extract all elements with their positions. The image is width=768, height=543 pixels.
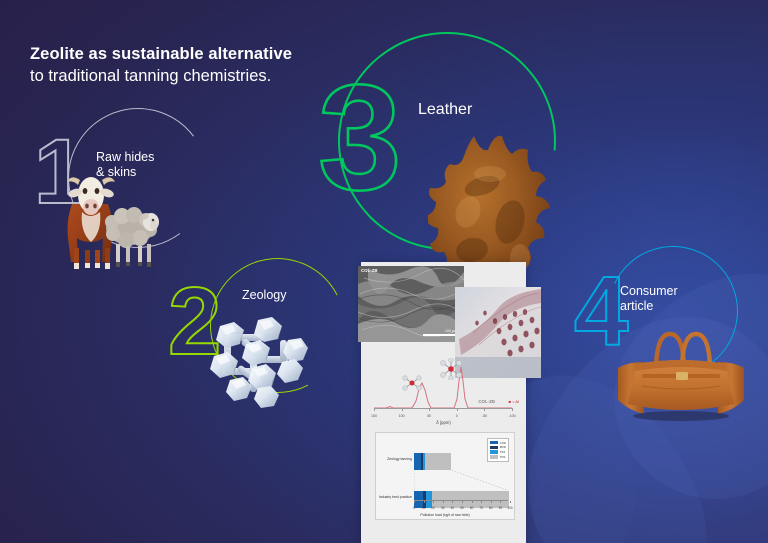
bar-chart-tick-label: 80	[489, 506, 493, 510]
nmr-x-axis-label: δ (ppm)	[366, 420, 521, 425]
bar-chart-x-axis	[414, 500, 508, 501]
step-3-label: Leather	[418, 100, 472, 120]
bar-chart-tick-label: 40	[451, 506, 455, 510]
nmr-tick-label: -100	[508, 414, 515, 418]
bar-label-zeology-tanning: Zeology tanning	[387, 457, 412, 461]
sheep-photo	[96, 198, 162, 270]
bar-chart-tick	[500, 501, 501, 503]
bar-chart-tick	[443, 501, 444, 503]
bar-zeology-tanning	[414, 453, 451, 470]
nmr-key-text: = Al	[512, 399, 519, 404]
bar-chart-tick-label: 20	[431, 506, 435, 510]
step-3-number: 3	[318, 62, 401, 212]
nmr-tick-label: 0	[456, 414, 458, 418]
bar-chart-tick-label: 10	[422, 506, 426, 510]
step-3-label-line-1: Leather	[418, 100, 472, 120]
bar-chart-tick	[472, 501, 473, 503]
nmr-key-label: ■ = Al	[509, 399, 519, 404]
legend-item-cod: COD	[490, 441, 506, 445]
nmr-tick	[374, 408, 375, 411]
infographic-canvas: Zeolite as sustainable alternative to tr…	[0, 0, 768, 543]
legend-swatch	[490, 446, 498, 449]
bar-chart-tick-label: 70	[479, 506, 483, 510]
page-title-line-1: Zeolite as sustainable alternative	[30, 44, 292, 66]
legend-item-tds: TDS	[490, 455, 506, 459]
nmr-tick-label: 50	[427, 414, 431, 418]
legend-swatch	[490, 441, 498, 444]
nmr-tick	[484, 408, 485, 411]
leather-handbag-photo	[612, 312, 750, 422]
bar-chart-tick	[433, 501, 434, 503]
legend-swatch	[490, 455, 498, 458]
bar-chart-tick	[452, 501, 453, 503]
pollution-load-chart: Zeology tanning Industry best practice 0…	[375, 432, 515, 520]
nmr-tick-label: -50	[482, 414, 487, 418]
nmr-sample-label: COL-ZB	[478, 399, 495, 404]
legend-label: TDS	[500, 455, 506, 459]
bar-chart-tick	[462, 501, 463, 503]
bar-chart-x-axis-label: Pollution load (kg/t of raw hide)	[376, 513, 514, 517]
legend-item-bod: BOD	[490, 445, 506, 449]
legend-label: TSS	[500, 450, 505, 454]
nmr-tick	[512, 408, 513, 411]
sem-tag: COL-ZB	[361, 268, 378, 273]
zeolite-crystal-model	[196, 300, 314, 412]
bar-chart-tick-label: 100	[507, 506, 512, 510]
sem-micrograph: COL-ZB 100 µm	[358, 266, 464, 342]
legend-swatch	[490, 450, 498, 453]
page-title-line-2: to traditional tanning chemistries.	[30, 66, 292, 88]
bar-chart-tick	[510, 501, 511, 503]
bar-chart-tick-label: 30	[441, 506, 445, 510]
bar-segment-tds	[425, 453, 452, 470]
nmr-tick	[429, 408, 430, 411]
step-4-label: Consumer article	[620, 284, 678, 315]
nmr-x-axis	[374, 408, 512, 409]
connector-line	[451, 470, 508, 491]
nmr-key-swatch: ■	[509, 399, 511, 404]
legend-label: BOD	[500, 445, 506, 449]
bar-chart-tick-label: 50	[460, 506, 464, 510]
bar-segment-cod	[414, 453, 421, 470]
legend-item-tss: TSS	[490, 450, 506, 454]
legend-label: COD	[500, 441, 506, 445]
bar-label-industry-best-practice: Industry best practice	[379, 495, 412, 499]
bar-chart-tick	[414, 501, 415, 503]
nmr-tick-label: 150	[371, 414, 377, 418]
bar-chart-tick	[491, 501, 492, 503]
nmr-molecule-tetrahedral-icon	[438, 358, 464, 380]
nmr-tick	[457, 408, 458, 411]
bar-chart-tick-label: 0	[413, 506, 415, 510]
bar-chart-tick-label: 60	[470, 506, 474, 510]
bar-chart-tick-label: 90	[499, 506, 503, 510]
step-4-label-line-1: Consumer	[620, 284, 678, 299]
bar-chart-tick	[424, 501, 425, 503]
nmr-molecule-octahedral-icon	[401, 374, 423, 392]
bar-chart-tick	[481, 501, 482, 503]
sem-scale-bar	[423, 334, 457, 336]
nmr-tick-label: 100	[399, 414, 405, 418]
nmr-tick	[402, 408, 403, 411]
nmr-spectrum-chart: COL-ZB ■ = Al δ (ppm) 150100500-50-100	[366, 356, 521, 426]
bar-chart-legend: CODBODTSSTDS	[487, 438, 509, 462]
page-title: Zeolite as sustainable alternative to tr…	[30, 44, 292, 88]
